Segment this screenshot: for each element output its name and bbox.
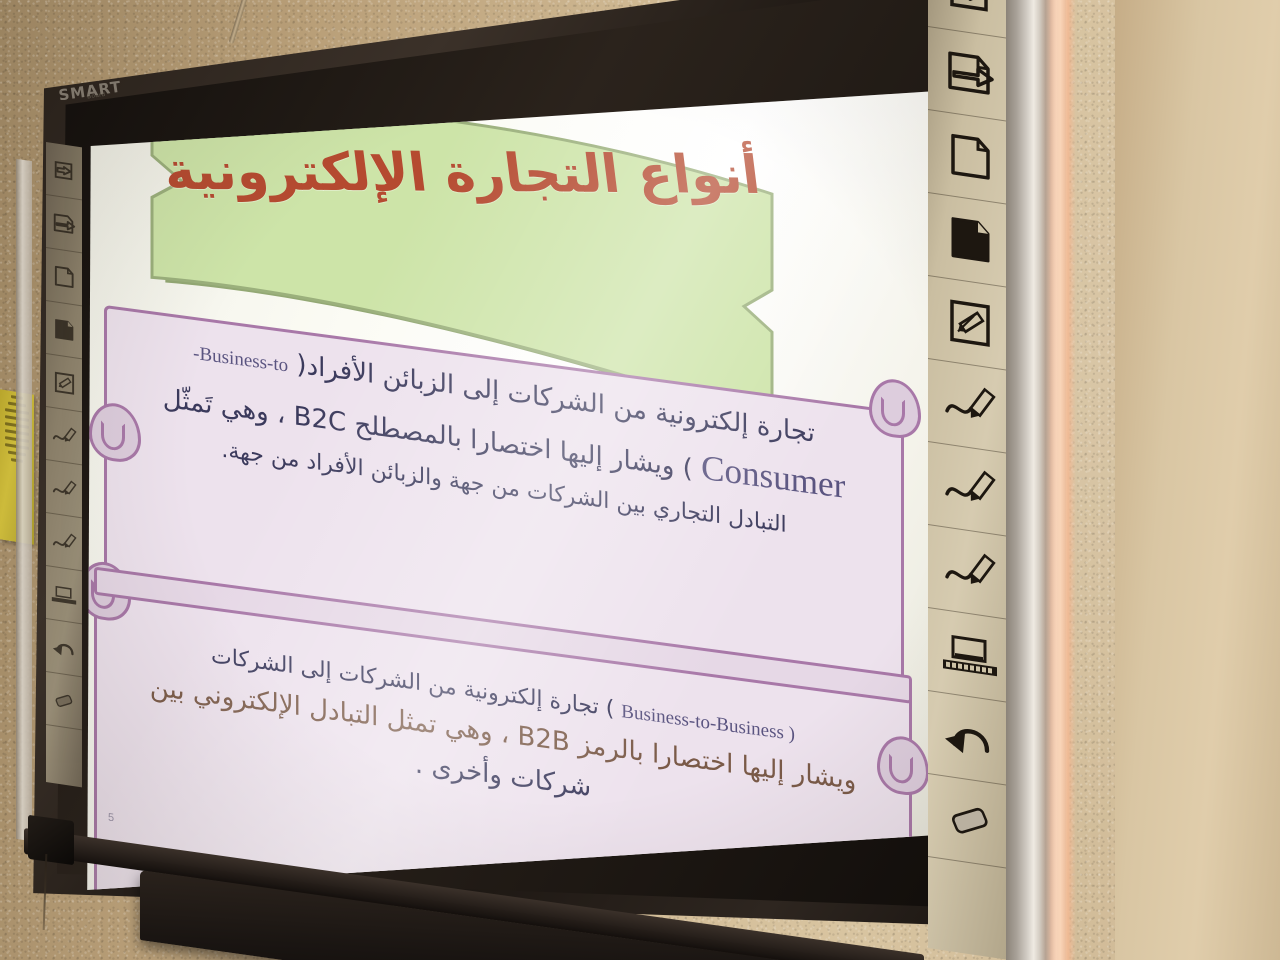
wall-right-panel [1115, 0, 1280, 960]
keyboard-icon[interactable] [928, 608, 1012, 703]
brand-name: SMART [57, 78, 122, 105]
new-page-icon[interactable] [928, 110, 1012, 205]
eraser-icon[interactable] [46, 672, 82, 730]
left-toolbar [46, 142, 82, 787]
pen-black-icon[interactable] [928, 359, 1012, 454]
pen-black-icon[interactable] [46, 407, 82, 465]
pen-blue-icon[interactable] [928, 442, 1012, 537]
projection-surface: أنواع التجارة الإلكترونية تجارة إلكتروني… [82, 90, 952, 890]
photo-scene: SMART Board أنواع التجارة الإلكترونية [0, 0, 1280, 960]
brand-subtitle: Board [87, 92, 106, 101]
metal-edge-highlight [1050, 0, 1076, 960]
new-page-icon[interactable] [46, 248, 82, 306]
eraser-icon[interactable] [928, 774, 1012, 869]
page-next-icon[interactable] [928, 27, 1012, 122]
board-side-rail [16, 159, 32, 841]
blank-page-icon[interactable] [928, 193, 1012, 288]
pen-red-icon[interactable] [928, 525, 1012, 620]
box-b2c-line1-english: Business-to- [193, 343, 288, 377]
box-b2c-line2-english: Consumer [701, 448, 845, 506]
slide-page-number: 5 [108, 811, 114, 824]
presentation-slide: أنواع التجارة الإلكترونية تجارة إلكتروني… [82, 90, 952, 890]
undo-icon[interactable] [46, 619, 82, 677]
right-toolbar [928, 0, 1012, 960]
blank-page-icon[interactable] [46, 301, 82, 359]
smartboard: SMART Board أنواع التجارة الإلكترونية [0, 0, 1070, 960]
keyboard-icon[interactable] [46, 566, 82, 624]
undo-icon[interactable] [928, 691, 1012, 786]
page-previous-icon[interactable] [46, 142, 82, 200]
wall-mount-bracket [28, 815, 74, 865]
pen-red-icon[interactable] [46, 513, 82, 571]
select-pen-icon[interactable] [46, 354, 82, 412]
pen-blue-icon[interactable] [46, 460, 82, 518]
select-pen-icon[interactable] [928, 276, 1012, 371]
page-next-icon[interactable] [46, 195, 82, 253]
